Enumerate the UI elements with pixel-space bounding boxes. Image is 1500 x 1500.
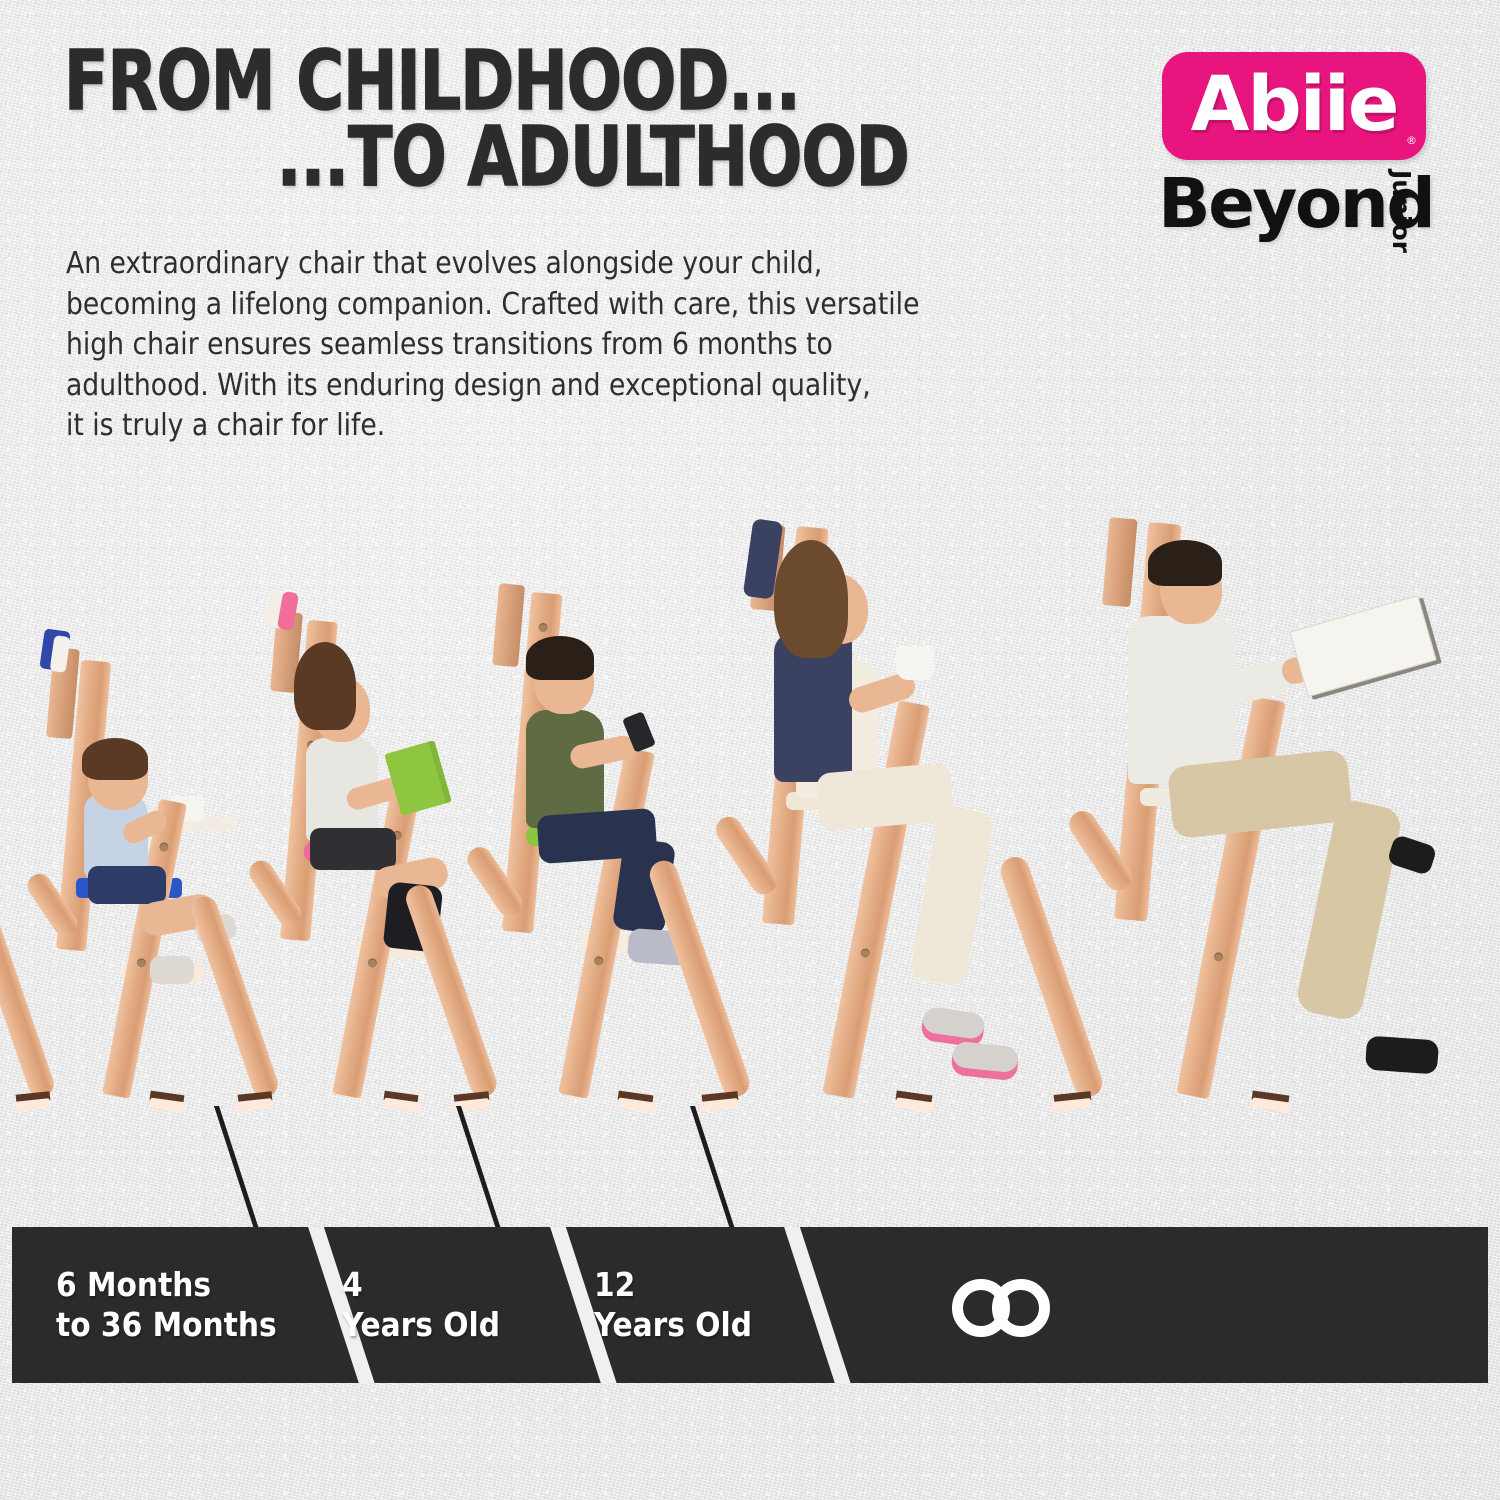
woman-sock-1 [920,1006,986,1048]
man-pants-lower [1294,797,1403,1022]
logo-product-line: Beyond [1158,164,1420,244]
description-paragraph: An extraordinary chair that evolves alon… [66,244,1065,447]
infinity-ring-right [992,1279,1050,1337]
woman-pants [816,762,955,831]
poster-canvas: FROM CHILDHOOD... ...TO ADULTHOOD An ext… [0,0,1500,1500]
man-hair [1148,540,1222,586]
boy-torso [526,710,604,828]
figure-man [1050,470,1480,1110]
timeline-segment-teen: 12 Years Old [594,1227,814,1383]
timeline-segment-child: 4 Years Old [342,1227,562,1383]
segment-label-line-2: Years Old [594,1305,814,1345]
logo-wordmark: Abiie [1162,52,1426,160]
chair-backrest-panel [492,583,525,667]
boy-hair [526,636,594,680]
woman-pants-lower [909,804,995,987]
timeline-divider-2 [456,1106,503,1234]
timeline-divider-3 [690,1106,737,1234]
segment-label-line-2: to 36 Months [56,1305,306,1345]
logo-product-suffix: Junior [1387,170,1416,253]
man-newspaper [1289,595,1437,697]
product-lifecycle-illustration [0,470,1500,1110]
timeline-segment-infant: 6 Months to 36 Months [56,1227,306,1383]
timeline-divider-1 [214,1106,261,1234]
child-hair [82,738,148,780]
headline-line-1: FROM CHILDHOOD... [64,44,909,120]
chair-rear-leg [0,903,57,1101]
page-title: FROM CHILDHOOD... ...TO ADULTHOOD [64,44,909,197]
figure-woman [700,470,1040,1110]
child-sock-2 [150,956,194,984]
logo-badge: Abiie ® [1162,52,1426,160]
brand-logo: Abiie ® Beyond Junior [1148,52,1468,267]
child-shorts [88,866,166,904]
girl-skirt [310,828,396,870]
segment-label-line-1: 4 [342,1265,562,1305]
woman-mug [896,646,934,680]
timeline-banner: 6 Months to 36 Months 4 Years Old 12 Yea… [12,1227,1488,1383]
chair-backrest-panel [1102,517,1138,607]
segment-label-line-2: Years Old [342,1305,562,1345]
man-sock-1 [1386,834,1437,876]
man-sock-2 [1365,1036,1439,1075]
woman-sock-2 [950,1041,1019,1082]
girl-hair [294,642,356,730]
registered-trademark-icon: ® [1406,134,1417,147]
headline-line-2: ...TO ADULTHOOD [64,120,909,196]
segment-label-line-1: 6 Months [56,1265,306,1305]
woman-hair [774,540,848,658]
infinity-icon [952,1279,1092,1337]
segment-label-line-1: 12 [594,1265,814,1305]
